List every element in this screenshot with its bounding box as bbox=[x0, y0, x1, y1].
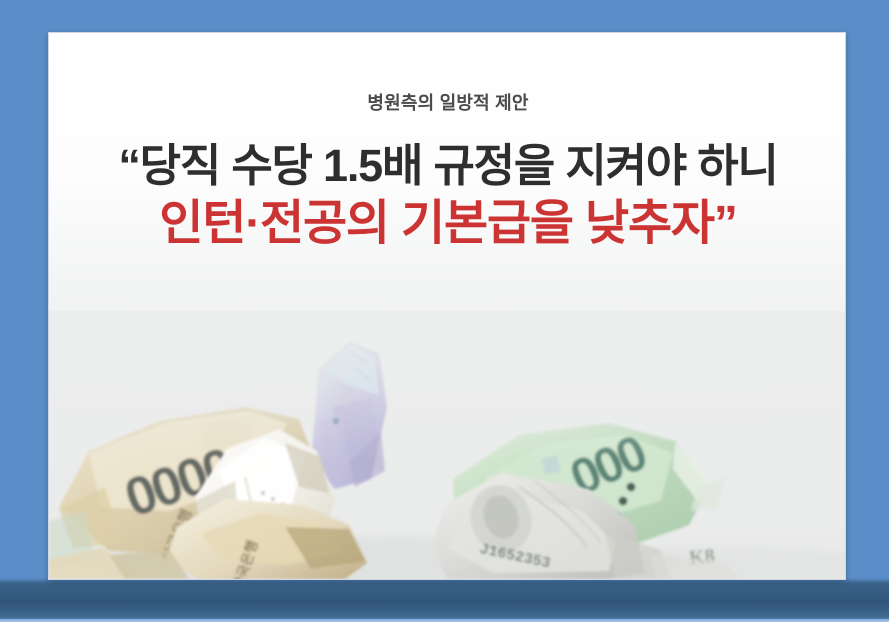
crumpled-banknotes-photo: 0000 한국은행 bbox=[49, 311, 846, 579]
backdrop-bottom-gradient bbox=[0, 578, 889, 622]
banknotes-illustration: 0000 한국은행 bbox=[49, 311, 846, 579]
kicker-text: 병원측의 일방적 제안 bbox=[49, 93, 846, 115]
headline-line-1: “당직 수당 1.5배 규정을 지켜야 하니 bbox=[49, 139, 846, 192]
headline-line-2: 인턴·전공의 기본급을 낮추자” bbox=[49, 196, 846, 253]
backdrop-top-gradient bbox=[0, 0, 889, 34]
slide-card[interactable]: 병원측의 일방적 제안 “당직 수당 1.5배 규정을 지켜야 하니 인턴·전공… bbox=[48, 32, 846, 580]
viewer-backdrop: 병원측의 일방적 제안 “당직 수당 1.5배 규정을 지켜야 하니 인턴·전공… bbox=[0, 0, 889, 622]
headline-block: 병원측의 일방적 제안 “당직 수당 1.5배 규정을 지켜야 하니 인턴·전공… bbox=[49, 33, 846, 252]
